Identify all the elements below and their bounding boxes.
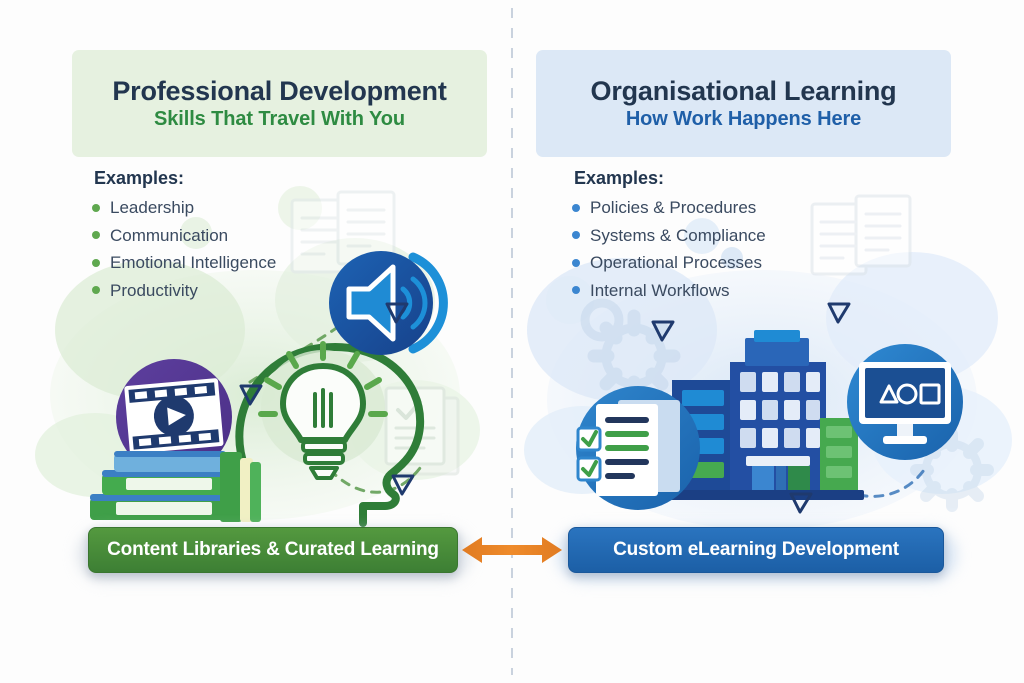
list-item-label: Emotional Intelligence bbox=[110, 253, 276, 273]
list-item-label: Leadership bbox=[110, 198, 194, 218]
list-item: Leadership bbox=[92, 198, 276, 218]
left-banner[interactable]: Content Libraries & Curated Learning bbox=[88, 527, 458, 573]
monitor-shapes-icon bbox=[843, 340, 967, 464]
left-examples-block: Examples: Leadership Communication Emoti… bbox=[92, 168, 276, 308]
left-subtitle: Skills That Travel With You bbox=[154, 108, 405, 130]
bullet-dot-icon bbox=[572, 286, 580, 294]
cursor-arrow-icon bbox=[238, 382, 264, 408]
right-title: Organisational Learning bbox=[591, 77, 897, 107]
list-item: Internal Workflows bbox=[572, 281, 766, 301]
center-divider bbox=[511, 8, 513, 675]
book-stack-icon bbox=[82, 440, 262, 526]
list-item-label: Internal Workflows bbox=[590, 281, 730, 301]
list-item-label: Productivity bbox=[110, 281, 198, 301]
double-headed-arrow-icon bbox=[462, 535, 562, 565]
panel-organisational-learning: Organisational Learning How Work Happens… bbox=[512, 0, 1024, 683]
right-examples-block: Examples: Policies & Procedures Systems … bbox=[572, 168, 766, 308]
cursor-arrow-icon bbox=[788, 490, 814, 516]
right-examples-label: Examples: bbox=[574, 168, 766, 189]
left-examples-list: Leadership Communication Emotional Intel… bbox=[92, 198, 276, 300]
list-item: Operational Processes bbox=[572, 253, 766, 273]
infographic-canvas: Professional Development Skills That Tra… bbox=[0, 0, 1024, 683]
bullet-dot-icon bbox=[92, 259, 100, 267]
bullet-dot-icon bbox=[92, 204, 100, 212]
cursor-arrow-icon bbox=[390, 472, 416, 498]
bullet-dot-icon bbox=[92, 231, 100, 239]
right-banner[interactable]: Custom eLearning Development bbox=[568, 527, 944, 573]
left-examples-label: Examples: bbox=[94, 168, 276, 189]
list-item-label: Operational Processes bbox=[590, 253, 762, 273]
bullet-dot-icon bbox=[572, 231, 580, 239]
list-item: Productivity bbox=[92, 281, 276, 301]
list-item-label: Policies & Procedures bbox=[590, 198, 756, 218]
list-item: Communication bbox=[92, 226, 276, 246]
list-item-label: Communication bbox=[110, 226, 228, 246]
cursor-arrow-icon bbox=[384, 300, 410, 326]
panel-professional-development: Professional Development Skills That Tra… bbox=[0, 0, 512, 683]
cursor-arrow-icon bbox=[650, 318, 676, 344]
list-item: Emotional Intelligence bbox=[92, 253, 276, 273]
bullet-dot-icon bbox=[92, 286, 100, 294]
list-item-label: Systems & Compliance bbox=[590, 226, 766, 246]
list-item: Policies & Procedures bbox=[572, 198, 766, 218]
cursor-arrow-icon bbox=[826, 300, 852, 326]
bullet-dot-icon bbox=[572, 259, 580, 267]
right-header: Organisational Learning How Work Happens… bbox=[536, 50, 951, 157]
left-header: Professional Development Skills That Tra… bbox=[72, 50, 487, 157]
checklist-clipboard-icon bbox=[572, 382, 704, 514]
left-title: Professional Development bbox=[112, 77, 446, 107]
right-subtitle: How Work Happens Here bbox=[626, 108, 861, 130]
bullet-dot-icon bbox=[572, 204, 580, 212]
list-item: Systems & Compliance bbox=[572, 226, 766, 246]
right-examples-list: Policies & Procedures Systems & Complian… bbox=[572, 198, 766, 300]
